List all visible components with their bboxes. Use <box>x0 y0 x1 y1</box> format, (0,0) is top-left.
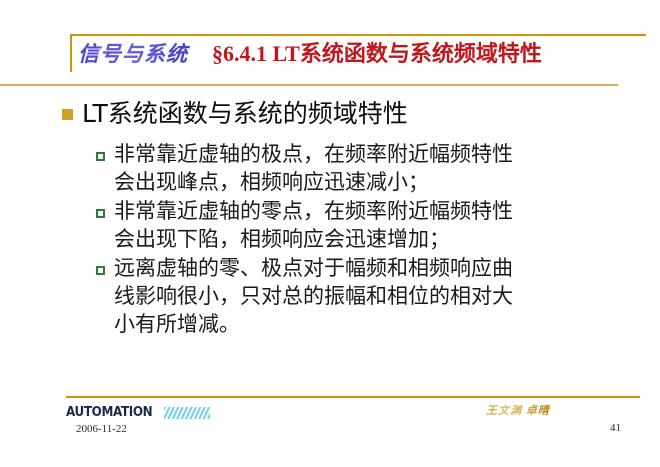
slide-title: §6.4.1 LT系统函数与系统频域特性 <box>212 38 650 70</box>
footer-rule <box>66 396 640 398</box>
automation-logo: AUTOMATION <box>66 406 210 420</box>
page-number: 41 <box>610 422 621 435</box>
presentation-slide: 信号与系统 §6.4.1 LT系统函数与系统频域特性 LT系统函数与系统的频域特… <box>0 0 660 467</box>
header-bottom-rule <box>0 84 618 86</box>
level1-bullet-row: LT系统函数与系统的频域特性 <box>62 96 632 132</box>
list-item: 非常靠近虚轴的零点，在频率附近幅频特性 会出现下陷，相频响应会迅速增加； <box>96 197 636 253</box>
hollow-square-bullet-icon <box>96 209 105 218</box>
hollow-square-bullet-icon <box>96 266 105 275</box>
list-item: 远离虚轴的零、极点对于幅频和相频响应曲 线影响很小，只对总的振幅和相位的相对大 … <box>96 254 636 338</box>
level1-heading-text: LT系统函数与系统的频域特性 <box>82 96 408 132</box>
list-item-text: 远离虚轴的零、极点对于幅频和相频响应曲 线影响很小，只对总的振幅和相位的相对大 … <box>114 254 513 338</box>
footer-authors: 王文渊 卓晴 <box>486 404 550 418</box>
automation-logo-text: AUTOMATION <box>66 406 152 420</box>
list-item-text: 非常靠近虚轴的极点，在频率附近幅频特性 会出现峰点，相频响应迅速减小； <box>114 140 513 196</box>
striped-bars-icon <box>164 407 210 419</box>
filled-square-bullet-icon <box>62 109 73 120</box>
level2-bullet-list: 非常靠近虚轴的极点，在频率附近幅频特性 会出现峰点，相频响应迅速减小； 非常靠近… <box>96 140 636 339</box>
hollow-square-bullet-icon <box>96 152 105 161</box>
slide-header: 信号与系统 §6.4.1 LT系统函数与系统频域特性 <box>0 0 660 88</box>
list-item-text: 非常靠近虚轴的零点，在频率附近幅频特性 会出现下陷，相频响应会迅速增加； <box>114 197 513 253</box>
slide-footer: AUTOMATION 2006-11-22 王文渊 卓晴 41 <box>0 396 660 467</box>
footer-date: 2006-11-22 <box>76 423 127 436</box>
list-item: 非常靠近虚轴的极点，在频率附近幅频特性 会出现峰点，相频响应迅速减小； <box>96 140 636 196</box>
slide-body: LT系统函数与系统的频域特性 非常靠近虚轴的极点，在频率附近幅频特性 会出现峰点… <box>0 88 660 388</box>
course-logo-text: 信号与系统 <box>78 40 202 68</box>
